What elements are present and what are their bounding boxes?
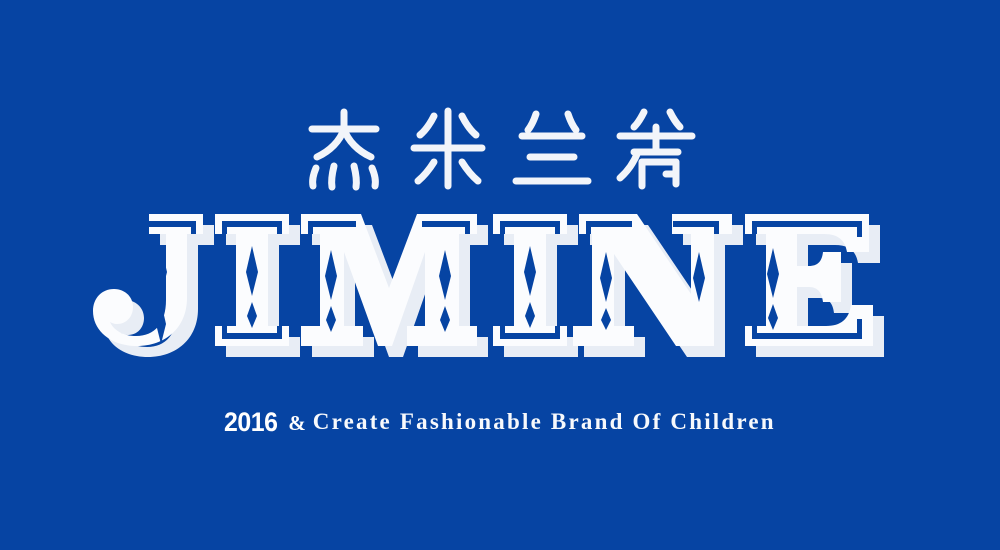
latin-wordmark [0, 206, 1000, 376]
chinese-character-mi [396, 96, 500, 200]
chinese-brand-name [0, 96, 1000, 200]
logo-canvas: 2016 & Create Fashionable Brand Of Child… [0, 0, 1000, 550]
tagline: 2016 & Create Fashionable Brand Of Child… [0, 402, 1000, 442]
tagline-phrase: Create Fashionable Brand Of Children [313, 409, 776, 435]
chinese-character-xi [604, 96, 708, 200]
tagline-year: 2016 [224, 407, 277, 438]
chinese-character-lan [500, 96, 604, 200]
chinese-character-jie [292, 96, 396, 200]
tagline-separator: & [288, 411, 306, 436]
